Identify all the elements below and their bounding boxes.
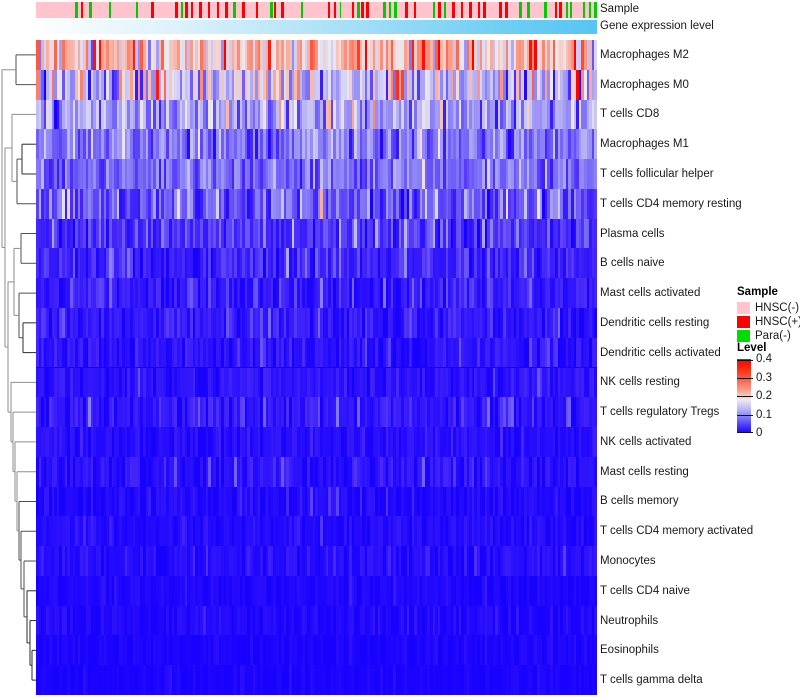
heatmap-grid [36, 40, 597, 695]
heatmap-cell [594, 635, 597, 665]
sample-annotation-stripe [461, 2, 464, 18]
colorbar-tick-label: 0.1 [756, 409, 772, 421]
heatmap-row [36, 635, 597, 665]
row-label: T cells CD4 memory resting [600, 198, 742, 210]
legend-swatch-para-neg [737, 330, 750, 342]
row-label: Monocytes [600, 555, 656, 567]
sample-annotation-stripe [414, 2, 417, 18]
row-label: Neutrophils [600, 615, 658, 627]
sample-annotation-stripe [444, 2, 447, 18]
row-label: Macrophages M0 [600, 79, 689, 91]
sample-annotation-label: Sample [600, 3, 639, 15]
heatmap-cell [594, 487, 597, 517]
heatmap-row [36, 40, 597, 70]
sample-annotation-stripe [519, 2, 522, 18]
sample-legend-title: Sample [737, 286, 799, 299]
heatmap-cell [594, 546, 597, 576]
colorbar-tick [737, 432, 753, 433]
heatmap-row [36, 100, 597, 130]
sample-annotation-stripe [478, 2, 481, 18]
sample-annotation-stripe [361, 2, 364, 18]
heatmap-row [36, 457, 597, 487]
sample-annotation-stripe [301, 2, 304, 18]
sample-annotation-stripe [452, 2, 455, 18]
heatmap-cell [594, 457, 597, 487]
level-colorbar-wrapper: 0.40.30.20.10 [737, 357, 799, 435]
heatmap-cell [594, 665, 597, 695]
heatmap-row [36, 189, 597, 219]
sample-annotation-stripe [340, 2, 342, 18]
row-label: Dendritic cells resting [600, 317, 709, 329]
sample-annotation-stripe [89, 2, 92, 18]
sample-annotation-stripe [75, 2, 78, 18]
heatmap-row [36, 397, 597, 427]
heatmap-cell [594, 129, 597, 159]
row-label: Eosinophils [600, 644, 659, 656]
row-label: T cells regulatory Tregs [600, 406, 719, 418]
heatmap-row [36, 516, 597, 546]
sample-annotation-stripe [256, 2, 259, 18]
colorbar-tick-label: 0.2 [756, 390, 772, 402]
sample-annotation-stripe [270, 2, 272, 18]
sample-annotation-stripe [394, 2, 397, 18]
sample-annotation-stripe [570, 2, 572, 18]
heatmap-row [36, 159, 597, 189]
row-dendrogram [0, 40, 36, 695]
colorbar-tick-label: 0 [756, 427, 762, 439]
sample-annotation-stripe [225, 2, 228, 18]
heatmap-cell [594, 70, 597, 100]
row-label: T cells gamma delta [600, 674, 703, 686]
sample-annotation-stripe [589, 2, 592, 18]
heatmap-row [36, 576, 597, 606]
heatmap-cell [594, 427, 597, 457]
row-label: B cells memory [600, 495, 679, 507]
sample-annotation-stripe [383, 2, 386, 18]
row-label: Dendritic cells activated [600, 347, 721, 359]
sample-annotation-stripe [357, 2, 359, 18]
row-label: NK cells activated [600, 436, 691, 448]
heatmap-cell [594, 308, 597, 338]
row-label: T cells CD4 memory activated [600, 525, 753, 537]
legend-label-hnsc-neg: HNSC(-) [755, 302, 799, 314]
colorbar-tick [737, 378, 753, 379]
row-label: T cells CD8 [600, 108, 659, 120]
sample-annotation-stripe [438, 2, 441, 18]
sample-annotation-stripe [583, 2, 586, 18]
heatmap-cell [594, 368, 597, 398]
sample-annotation-stripe [352, 2, 355, 18]
sample-annotation-stripe [208, 2, 211, 18]
colorbar-tick-label: 0.4 [756, 353, 772, 365]
heatmap-row [36, 248, 597, 278]
row-label: Mast cells resting [600, 466, 689, 478]
heatmap-cell [594, 338, 597, 368]
legend-swatch-hnsc-neg [737, 302, 750, 314]
heatmap-figure: Sample Gene expression level Macrophages… [0, 0, 800, 700]
sample-annotation-stripe [274, 2, 276, 18]
heatmap-row [36, 278, 597, 308]
heatmap-cell [594, 576, 597, 606]
sample-annotation-stripe [334, 2, 337, 18]
sample-annotation-stripe [483, 2, 486, 18]
gene-expression-annotation-label: Gene expression level [600, 20, 714, 32]
sample-annotation-stripe [366, 2, 369, 18]
sample-annotation-stripe [136, 2, 139, 18]
row-label: Plasma cells [600, 228, 665, 240]
heatmap-row [36, 546, 597, 576]
row-label: T cells follicular helper [600, 168, 714, 180]
heatmap-cell [594, 606, 597, 636]
heatmap-row [36, 308, 597, 338]
heatmap-row [36, 665, 597, 695]
legend-item-hnsc-pos: HNSC(+) [737, 315, 799, 328]
legend-label-para-neg: Para(-) [755, 330, 791, 342]
sample-annotation-stripe [566, 2, 568, 18]
sample-annotation-stripe [151, 2, 154, 18]
heatmap-cell [594, 159, 597, 189]
sample-annotation-stripe [181, 2, 183, 18]
sample-annotation-stripe [199, 2, 202, 18]
heatmap-cell [594, 397, 597, 427]
row-label: Mast cells activated [600, 287, 700, 299]
heatmap-row [36, 606, 597, 636]
row-label: B cells naive [600, 257, 665, 269]
heatmap-row [36, 487, 597, 517]
heatmap-cell [594, 278, 597, 308]
sample-annotation-stripe [559, 2, 561, 18]
legend-label-hnsc-pos: HNSC(+) [755, 316, 800, 328]
sample-annotation-stripe [233, 2, 236, 18]
heatmap-cell [594, 100, 597, 130]
row-label: T cells CD4 naive [600, 585, 690, 597]
heatmap-cell [594, 40, 597, 70]
colorbar-tick [737, 396, 753, 397]
heatmap-cell [594, 189, 597, 219]
sample-annotation-stripe [594, 2, 597, 18]
legend-item-hnsc-neg: HNSC(-) [737, 301, 799, 314]
sample-annotation-stripe [405, 2, 408, 18]
heatmap-row [36, 368, 597, 398]
sample-annotation-stripe [175, 2, 178, 18]
row-label: Macrophages M1 [600, 138, 689, 150]
legend-swatch-hnsc-pos [737, 316, 750, 328]
sample-annotation-stripe [505, 2, 508, 18]
sample-annotation-stripe [242, 2, 245, 18]
row-label: NK cells resting [600, 376, 680, 388]
sample-annotation-stripe [217, 2, 220, 18]
sample-annotation-stripe [544, 2, 547, 18]
colorbar-tick [737, 360, 753, 361]
heatmap-cell [594, 248, 597, 278]
sample-annotation-stripe [389, 2, 392, 18]
heatmap-row [36, 70, 597, 100]
level-legend: Level 0.40.30.20.10 [737, 342, 799, 435]
sample-annotation-stripe [555, 2, 558, 18]
sample-annotation-stripe [81, 2, 84, 18]
sample-annotation-stripe [499, 2, 502, 18]
row-dendrogram-svg [0, 40, 36, 695]
row-label: Macrophages M2 [600, 49, 689, 61]
heatmap-row [36, 129, 597, 159]
sample-annotation-stripe [527, 2, 530, 18]
colorbar-tick [737, 415, 753, 416]
colorbar-tick-label: 0.3 [756, 372, 772, 384]
sample-annotation-stripe [191, 2, 194, 18]
heatmap-row [36, 219, 597, 249]
sample-annotation-stripe [281, 2, 284, 18]
sample-annotation-stripe [185, 2, 188, 18]
heatmap-row [36, 427, 597, 457]
heatmap-cell [594, 219, 597, 249]
sample-annotation-bar [36, 2, 597, 18]
heatmap-cell [594, 516, 597, 546]
sample-annotation-stripe [109, 2, 112, 18]
gene-expression-annotation-bar [36, 20, 597, 34]
legend-item-para-neg: Para(-) [737, 329, 799, 342]
heatmap-row [36, 338, 597, 368]
sample-legend: Sample HNSC(-) HNSC(+) Para(-) [737, 286, 799, 343]
sample-annotation-stripe [328, 2, 331, 18]
sample-annotation-stripe [433, 2, 436, 18]
sample-annotation-stripe [469, 2, 472, 18]
